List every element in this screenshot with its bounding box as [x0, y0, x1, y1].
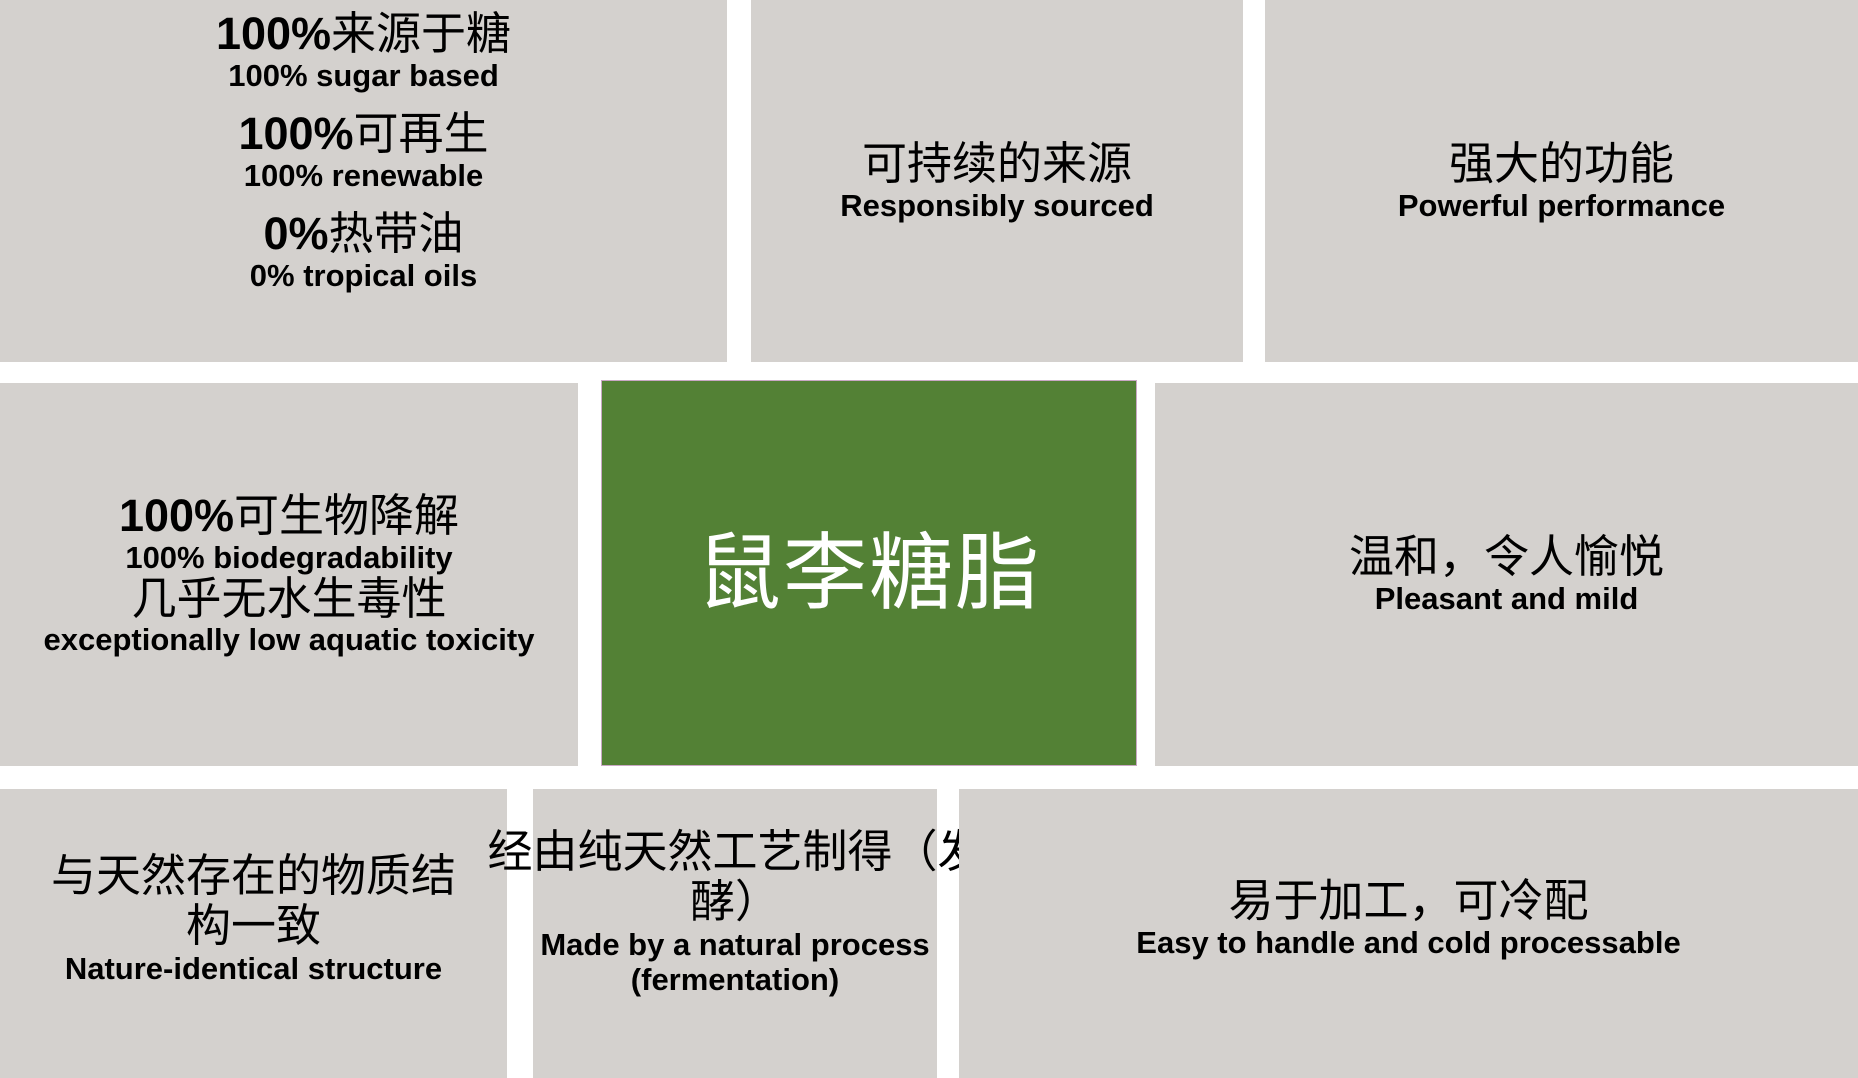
panel-center-rhamnolipid: 鼠李糖脂	[601, 380, 1137, 766]
fermentation-en-line2: (fermentation)	[631, 963, 839, 998]
sugar-based-en-1: 100% sugar based	[228, 59, 499, 92]
panel-powerful-performance: 强大的功能 Powerful performance	[1265, 0, 1858, 362]
center-title: 鼠李糖脂	[697, 527, 1041, 619]
pleasant-mild-en: Pleasant and mild	[1375, 582, 1639, 615]
biodegradability-cn: 100%可生物降解	[119, 492, 459, 541]
fermentation-cn-line1: 经由纯天然工艺制得（发	[488, 827, 983, 877]
infographic-slide: 100%来源于糖 100% sugar based 100%可再生 100% r…	[0, 0, 1858, 1078]
powerful-performance-cn: 强大的功能	[1449, 140, 1674, 189]
panel-nature-identical-structure: 与天然存在的物质结 构一致 Nature-identical structure	[0, 789, 507, 1078]
tropical-oils-cn-3: 0%热带油	[263, 210, 463, 259]
easy-handle-en: Easy to handle and cold processable	[1136, 926, 1680, 959]
easy-handle-cn: 易于加工，可冷配	[1228, 877, 1588, 926]
nature-identical-en: Nature-identical structure	[65, 952, 442, 985]
aquatic-toxicity-en: exceptionally low aquatic toxicity	[44, 623, 535, 656]
renewable-cn-2: 100%可再生	[238, 110, 488, 159]
fermentation-en-line1: Made by a natural process	[540, 928, 929, 963]
powerful-performance-en: Powerful performance	[1398, 189, 1725, 222]
aquatic-toxicity-cn: 几乎无水生毒性	[131, 575, 446, 624]
panel-pleasant-and-mild: 温和，令人愉悦 Pleasant and mild	[1155, 383, 1858, 766]
panel-sugar-based: 100%来源于糖 100% sugar based 100%可再生 100% r…	[0, 0, 727, 362]
nature-identical-cn-line1: 与天然存在的物质结	[51, 851, 456, 901]
tropical-oils-en-3: 0% tropical oils	[250, 259, 477, 292]
renewable-en-2: 100% renewable	[244, 159, 484, 192]
sugar-based-cn-1: 100%来源于糖	[216, 10, 511, 59]
fermentation-cn-line2: 酵）	[690, 877, 780, 927]
panel-responsibly-sourced: 可持续的来源 Responsibly sourced	[751, 0, 1243, 362]
biodegradability-en: 100% biodegradability	[125, 541, 452, 574]
panel-biodegradability: 100%可生物降解 100% biodegradability 几乎无水生毒性 …	[0, 383, 578, 766]
pleasant-mild-cn: 温和，令人愉悦	[1349, 533, 1664, 582]
panel-easy-to-handle: 易于加工，可冷配 Easy to handle and cold process…	[959, 789, 1858, 1078]
nature-identical-cn-line2: 构一致	[186, 901, 321, 951]
responsibly-sourced-en: Responsibly sourced	[840, 189, 1154, 222]
responsibly-sourced-cn: 可持续的来源	[862, 140, 1132, 189]
panel-natural-process-fermentation: 经由纯天然工艺制得（发 酵） Made by a natural process…	[533, 789, 937, 1078]
